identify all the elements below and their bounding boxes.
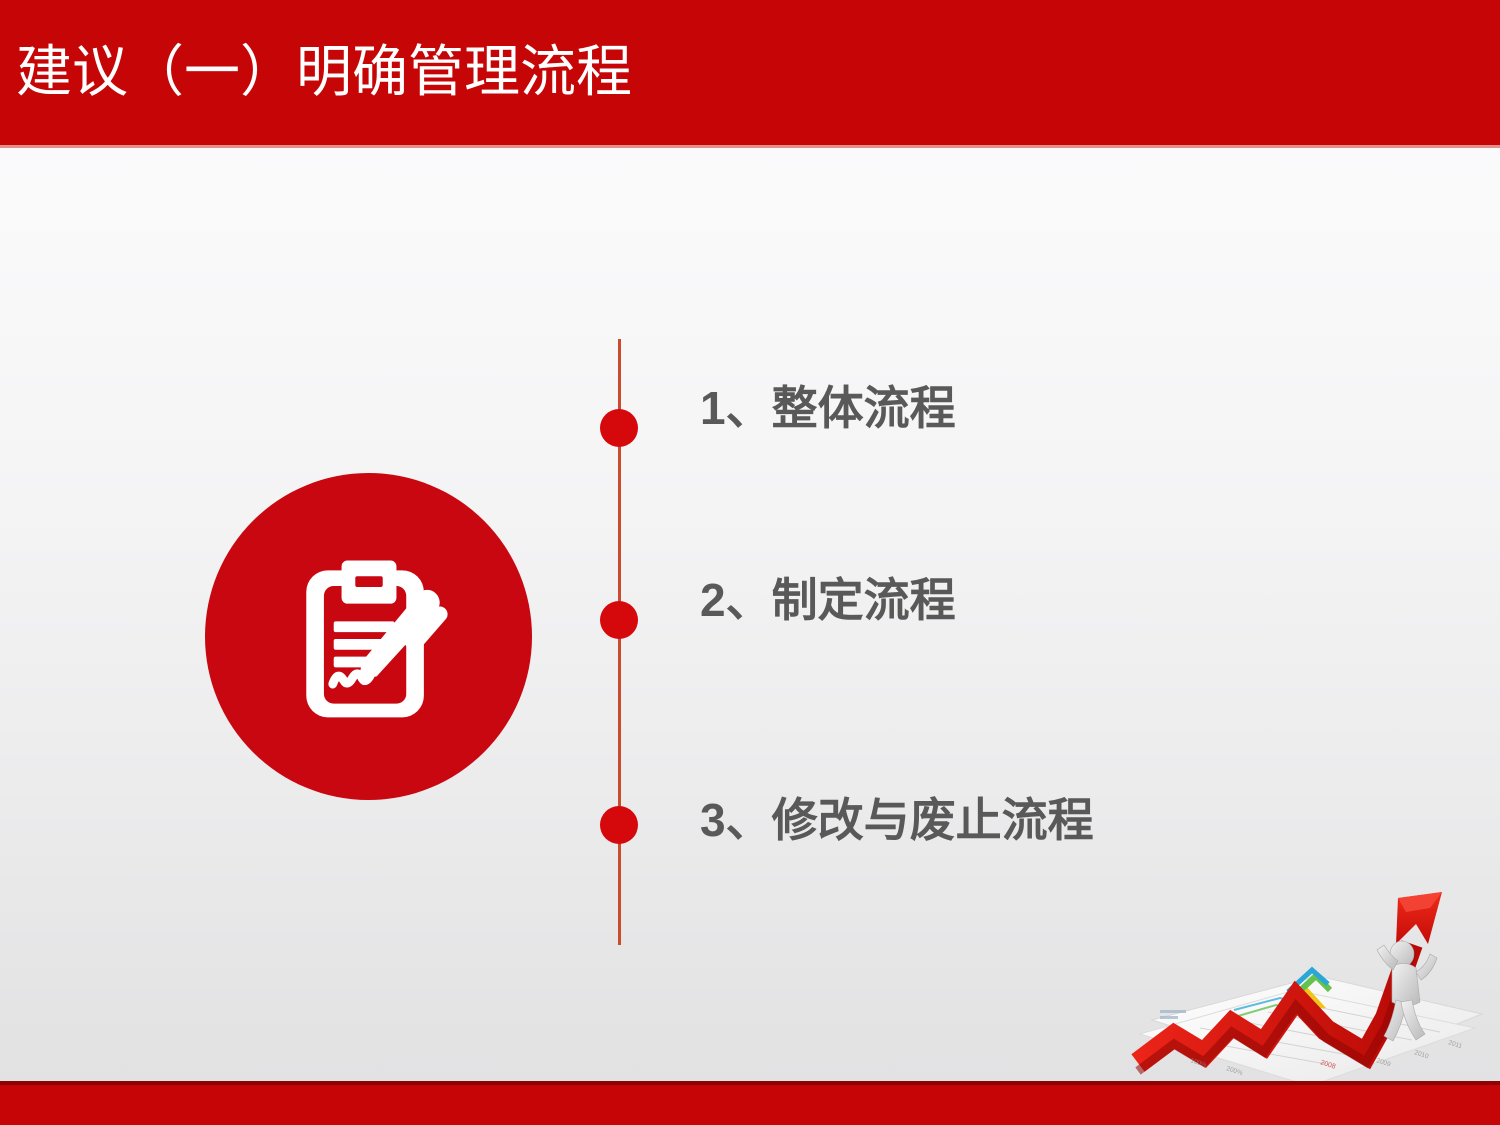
timeline-item-2-label: 2、制定流程: [700, 571, 956, 629]
svg-text:2009: 2009: [1375, 1057, 1391, 1068]
growth-arrow-chart-image: 2008 100% 200% 2009 2010 2011: [1130, 858, 1500, 1090]
slide: 建议（一）明确管理流程 1、整体流程 2、制定流程 3、修: [0, 0, 1500, 1125]
timeline-dot-3[interactable]: [600, 806, 638, 844]
timeline-dot-1[interactable]: [600, 409, 638, 447]
timeline-item-3-label: 3、修改与废止流程: [700, 791, 1094, 849]
svg-text:200%: 200%: [1225, 1065, 1243, 1077]
banner-underline: [0, 145, 1500, 148]
page-title: 建议（一）明确管理流程: [16, 30, 632, 114]
document-pen-icon: [205, 473, 532, 800]
timeline-item-1-label: 1、整体流程: [700, 379, 956, 437]
svg-text:2010: 2010: [1413, 1049, 1429, 1060]
svg-text:2011: 2011: [1447, 1039, 1463, 1050]
title-banner: 建议（一）明确管理流程: [0, 0, 1500, 148]
timeline-dot-2[interactable]: [600, 601, 638, 639]
footer-bar: [0, 1081, 1500, 1125]
